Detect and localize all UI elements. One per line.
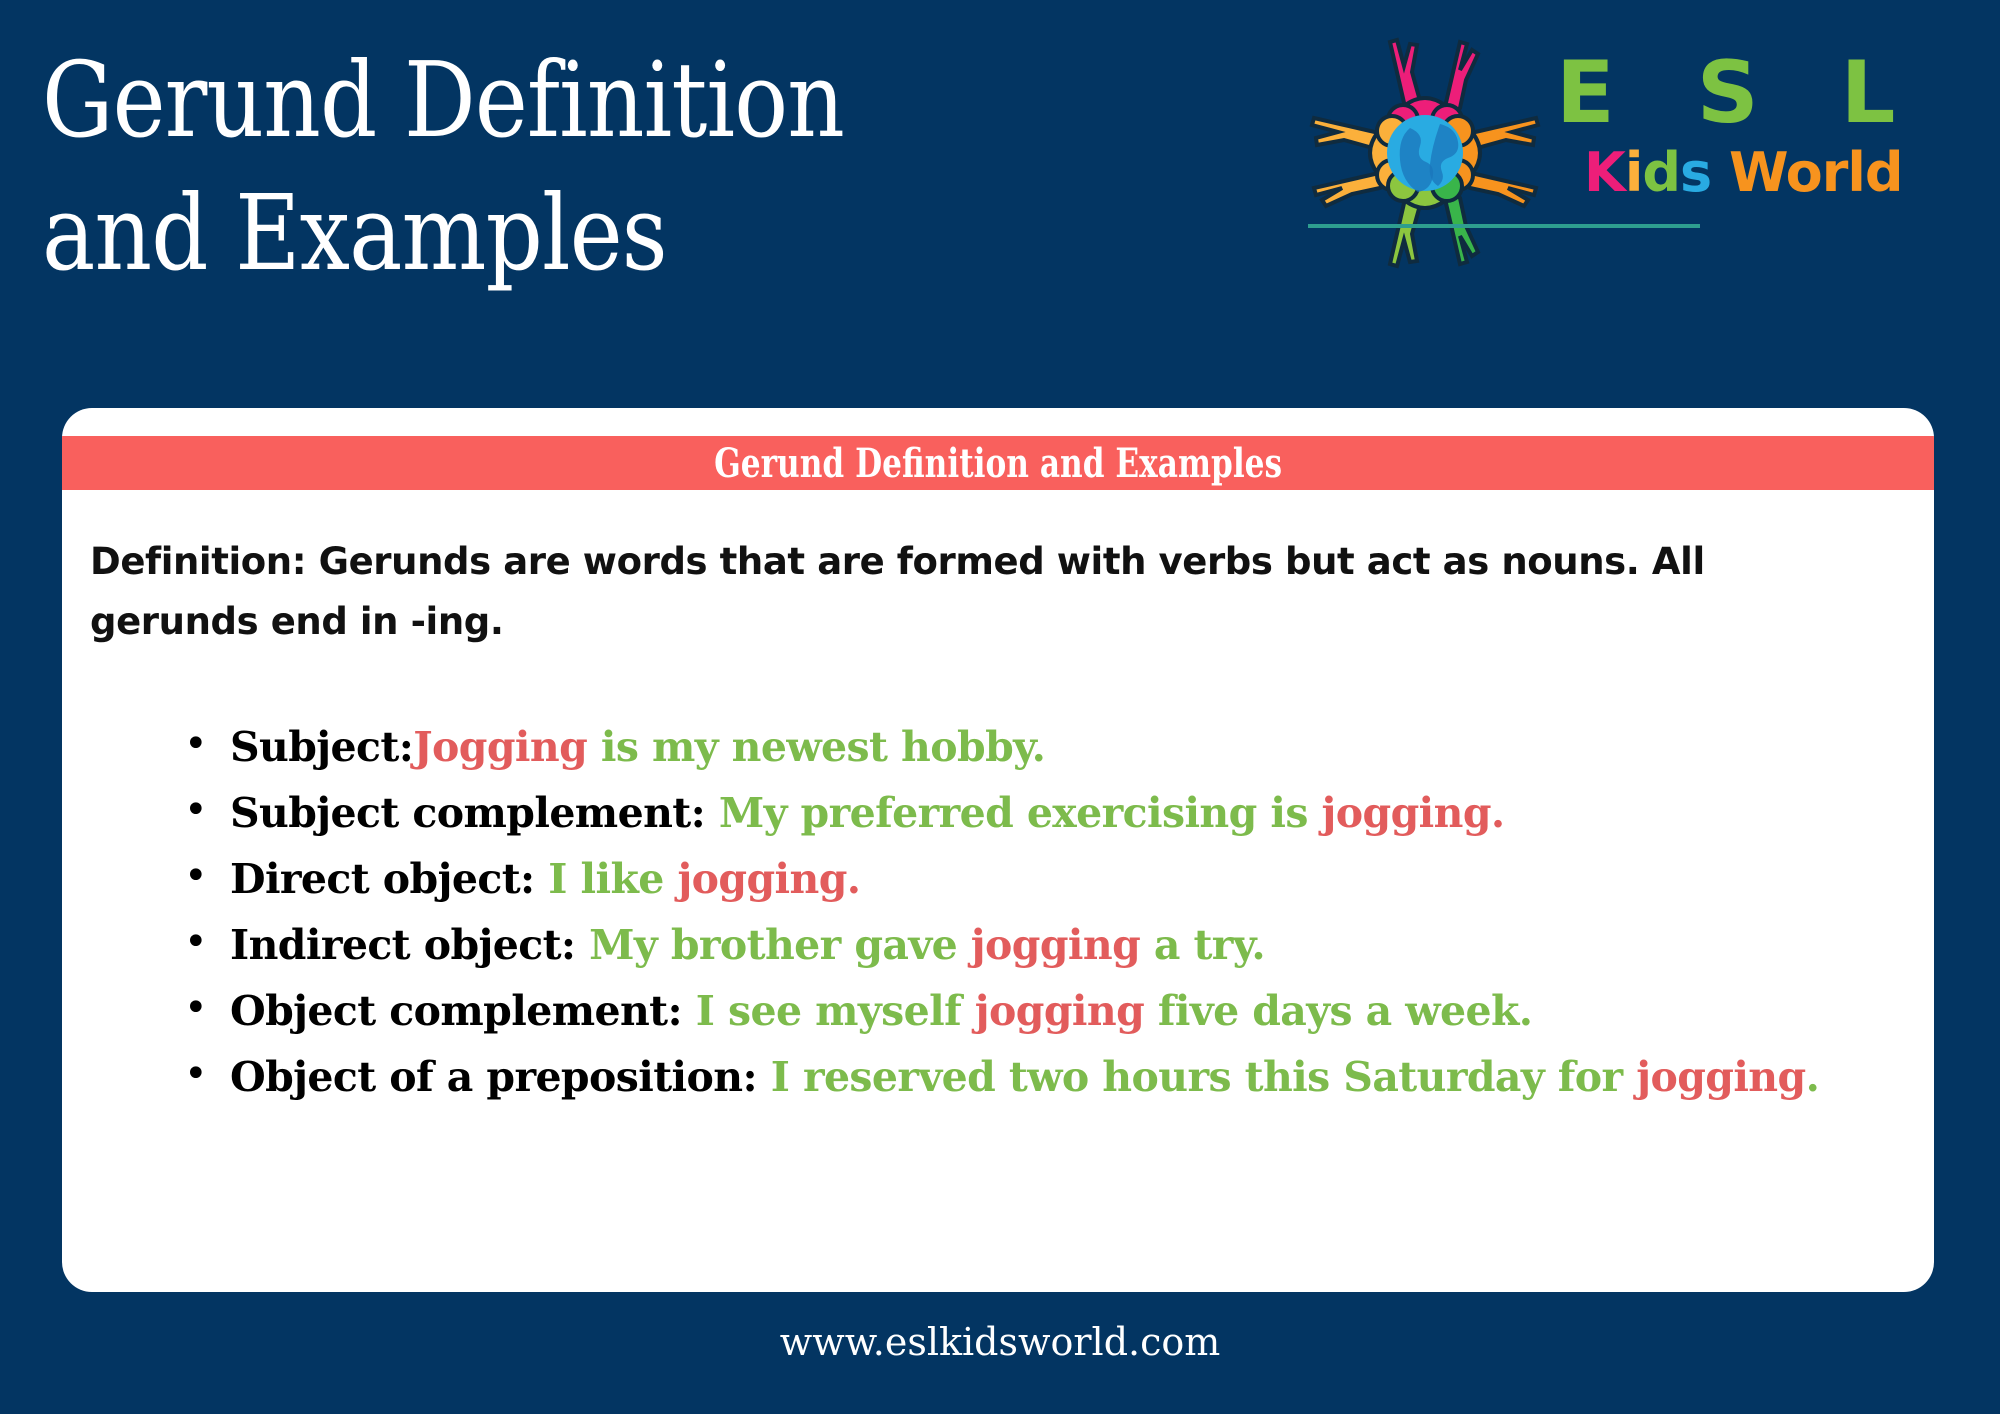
logo-kids-world-letter: i	[1625, 141, 1643, 204]
logo-kids-world-letter: r	[1822, 141, 1848, 204]
logo-kids-world-letter	[1711, 141, 1729, 204]
logo-kids-world-letter: W	[1729, 141, 1786, 204]
logo-kids-world-letter: l	[1847, 141, 1865, 204]
list-item: Object of a preposition: I reserved two …	[184, 1048, 1890, 1107]
bullet-example-segment: Jogging	[413, 723, 587, 771]
logo-kids-world-letter: o	[1786, 141, 1822, 204]
page-footer: www.eslkidsworld.com	[0, 1320, 2000, 1364]
logo-kids-world-letter: s	[1680, 141, 1711, 204]
list-item: Subject complement: My preferred exercis…	[184, 784, 1890, 843]
page-title: Gerund Definition and Examples	[42, 34, 902, 300]
card-body: Definition: Gerunds are words that are f…	[62, 490, 1934, 1107]
bullet-example-segment: jogging.	[1322, 789, 1505, 837]
list-item: Object complement: I see myself jogging …	[184, 982, 1890, 1041]
bullet-label: Subject:	[230, 723, 413, 771]
logo-kids-world-text: Kids World	[1552, 146, 1952, 200]
bullet-label: Object of a preposition:	[230, 1053, 757, 1101]
bullet-label: Indirect object:	[230, 921, 575, 969]
bullet-example-segment: My preferred exercising is	[705, 789, 1321, 837]
bullet-example-segment: jogging	[971, 921, 1140, 969]
list-item: Direct object: I like jogging.	[184, 850, 1890, 909]
bullet-example-segment: five days a week.	[1144, 987, 1532, 1035]
logo-kids-world-letter: d	[1642, 141, 1680, 204]
bullet-example-segment: jogging	[975, 987, 1144, 1035]
logo-kids-world-letter: d	[1865, 141, 1903, 204]
list-item: Subject:Jogging is my newest hobby.	[184, 718, 1890, 777]
bullet-example-segment: jogging.	[677, 855, 860, 903]
bullet-label: Direct object:	[230, 855, 535, 903]
card-header-title: Gerund Definition and Examples	[714, 440, 1282, 487]
logo-kids-world-letter: K	[1584, 141, 1625, 204]
brand-logo: E S L Kids World	[1300, 28, 1960, 278]
bullet-example-segment: jogging	[1636, 1053, 1805, 1101]
bullet-example-segment: I reserved two hours this Saturday for	[757, 1053, 1636, 1101]
website-url: www.eslkidsworld.com	[780, 1320, 1221, 1364]
bullet-example-segment: is my newest hobby.	[587, 723, 1045, 771]
examples-list: Subject:Jogging is my newest hobby.Subje…	[84, 718, 1890, 1107]
logo-esl-text: E S L	[1552, 50, 1952, 136]
bullet-example-segment: I like	[535, 855, 678, 903]
content-card: Gerund Definition and Examples Definitio…	[62, 408, 1934, 1292]
logo-underline	[1308, 224, 1700, 228]
card-header-bar: Gerund Definition and Examples	[62, 436, 1934, 490]
bullet-label: Subject complement:	[230, 789, 705, 837]
page-header: Gerund Definition and Examples	[0, 0, 2000, 400]
bullet-example-segment: .	[1806, 1053, 1820, 1101]
bullet-label: Object complement:	[230, 987, 682, 1035]
bullet-example-segment: My brother gave	[575, 921, 970, 969]
logo-wordmark: E S L Kids World	[1552, 50, 1952, 250]
definition-text: Definition: Gerunds are words that are f…	[84, 532, 1874, 652]
bullet-example-segment: a try.	[1140, 921, 1265, 969]
kids-around-globe-icon	[1300, 28, 1550, 278]
list-item: Indirect object: My brother gave jogging…	[184, 916, 1890, 975]
bullet-example-segment: I see myself	[682, 987, 975, 1035]
